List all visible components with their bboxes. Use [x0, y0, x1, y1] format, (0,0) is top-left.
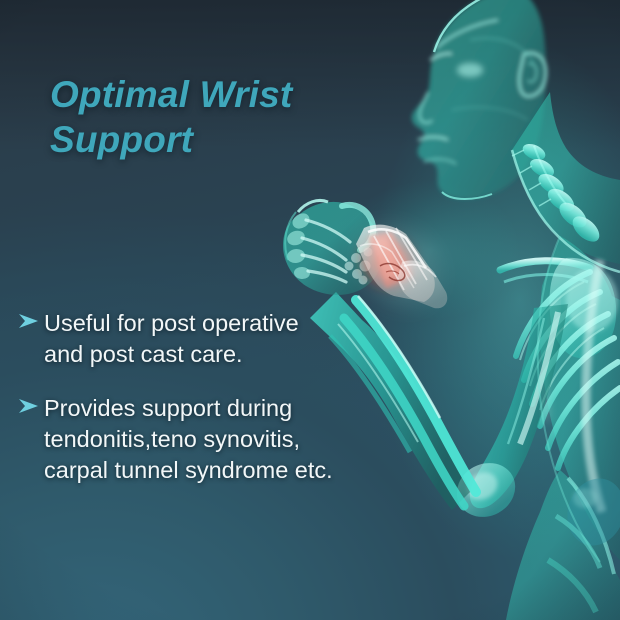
page-title: Optimal Wrist Support	[50, 72, 380, 162]
list-item-label: Useful for post operative and post cast …	[44, 308, 418, 371]
list-item: Provides support during tendonitis,teno …	[18, 393, 418, 487]
list-item: Useful for post operative and post cast …	[18, 308, 418, 371]
list-item-label: Provides support during tendonitis,teno …	[44, 393, 418, 487]
poster-canvas: Optimal Wrist Support Useful for post op…	[0, 0, 620, 620]
arrow-bullet-icon	[18, 313, 44, 329]
arrow-bullet-icon	[18, 398, 44, 414]
benefits-list: Useful for post operative and post cast …	[18, 308, 418, 508]
